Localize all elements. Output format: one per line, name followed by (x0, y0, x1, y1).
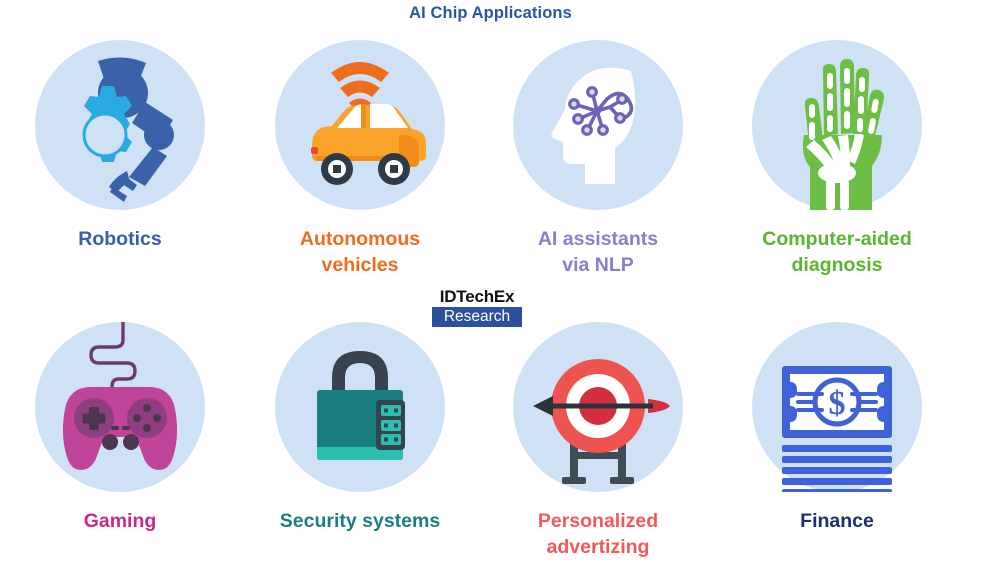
icon-circle-autonomous-vehicles (275, 40, 445, 210)
icon-circle-ai-assistants (513, 40, 683, 210)
icon-circle-computer-aided-diagnosis (752, 40, 922, 210)
label-ai-assistants: AI assistants via NLP (478, 227, 718, 278)
target-arrow-icon (513, 322, 683, 492)
connected-car-icon (275, 40, 445, 210)
label-autonomous-vehicles: Autonomous vehicles (240, 227, 480, 278)
robot-arm-gear-icon (35, 40, 205, 210)
icon-circle-gaming (35, 322, 205, 492)
card-personalized-advertizing[interactable]: Personalized advertizing (478, 322, 718, 560)
infographic-canvas: AI Chip Applications (0, 0, 981, 584)
card-finance[interactable]: $ Finance (717, 322, 957, 535)
label-gaming: Gaming (0, 509, 240, 535)
card-gaming[interactable]: Gaming (0, 322, 240, 535)
label-robotics: Robotics (0, 227, 240, 253)
page-title: AI Chip Applications (0, 4, 981, 23)
card-ai-assistants[interactable]: AI assistants via NLP (478, 40, 718, 278)
card-security-systems[interactable]: Security systems (240, 322, 480, 535)
card-computer-aided-diagnosis[interactable]: Computer-aided diagnosis (717, 40, 957, 278)
card-autonomous-vehicles[interactable]: Autonomous vehicles (240, 40, 480, 278)
label-finance: Finance (717, 509, 957, 535)
icon-circle-security-systems (275, 322, 445, 492)
banknote-stack-icon: $ (752, 322, 922, 492)
label-personalized-advertizing: Personalized advertizing (478, 509, 718, 560)
icon-circle-robotics (35, 40, 205, 210)
logo-subtitle: Research (432, 307, 522, 327)
icon-circle-finance: $ (752, 322, 922, 492)
gamepad-icon (35, 322, 205, 492)
idtechex-logo: IDTechEx Research (432, 288, 522, 327)
label-computer-aided-diagnosis: Computer-aided diagnosis (717, 227, 957, 278)
card-robotics[interactable]: Robotics (0, 40, 240, 253)
logo-wordmark: IDTechEx (432, 288, 522, 306)
xray-hand-icon (752, 40, 922, 210)
label-security-systems: Security systems (240, 509, 480, 535)
svg-text:$: $ (829, 385, 846, 422)
head-neural-network-icon (513, 40, 683, 210)
padlock-icon (275, 322, 445, 492)
icon-circle-personalized-advertizing (513, 322, 683, 492)
